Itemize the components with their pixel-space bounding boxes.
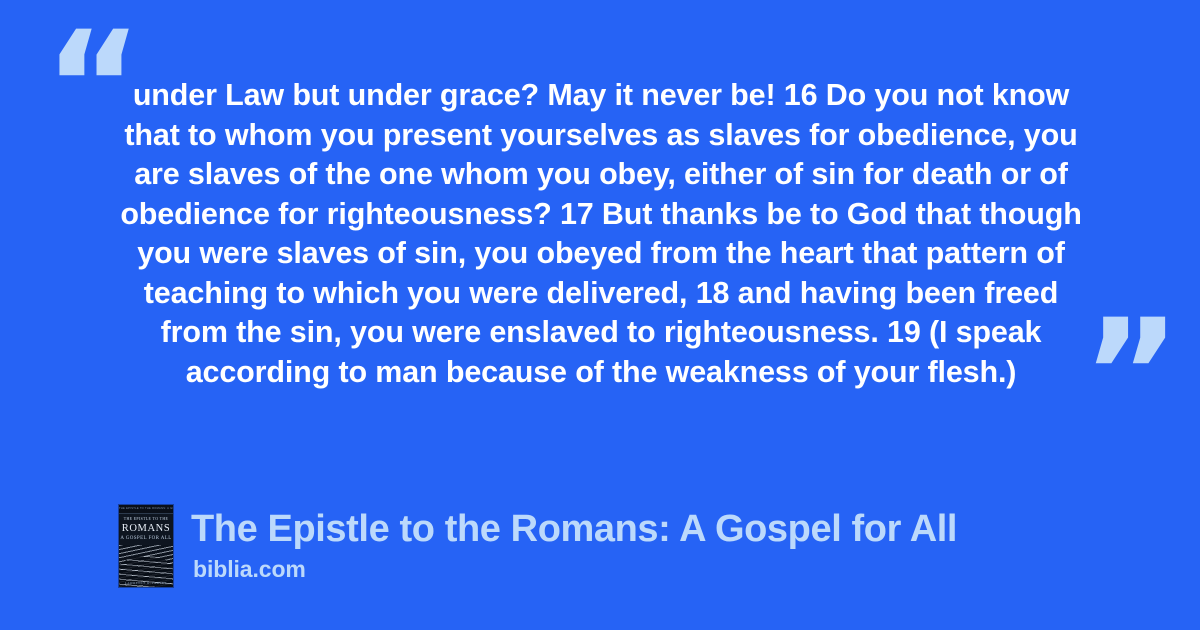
book-cover-subtitle: A GOSPEL FOR ALL bbox=[119, 536, 173, 541]
book-cover-band-text: THE EPISTLE TO THE ROMANS: A GOSPEL FOR … bbox=[119, 505, 173, 513]
footer-attribution: THE EPISTLE TO THE ROMANS: A GOSPEL FOR … bbox=[119, 505, 957, 587]
book-cover-thumbnail: THE EPISTLE TO THE ROMANS: A GOSPEL FOR … bbox=[119, 505, 173, 587]
book-cover-title: ROMANS bbox=[119, 523, 173, 534]
footer-text-block: The Epistle to the Romans: A Gospel for … bbox=[191, 505, 957, 584]
site-name-label: biblia.com bbox=[193, 554, 957, 584]
closing-quote-icon: ” bbox=[1082, 300, 1181, 450]
quote-passage-text: under Law but under grace? May it never … bbox=[110, 76, 1092, 392]
book-cover-author: LAWRENCE R. FARLEY bbox=[119, 581, 173, 585]
quote-card: “ under Law but under grace? May it neve… bbox=[0, 0, 1200, 630]
book-title-label: The Epistle to the Romans: A Gospel for … bbox=[191, 507, 957, 551]
book-cover-top-band: THE EPISTLE TO THE ROMANS: A GOSPEL FOR … bbox=[119, 505, 173, 514]
book-cover-superline: THE EPISTLE TO THE bbox=[119, 517, 173, 521]
